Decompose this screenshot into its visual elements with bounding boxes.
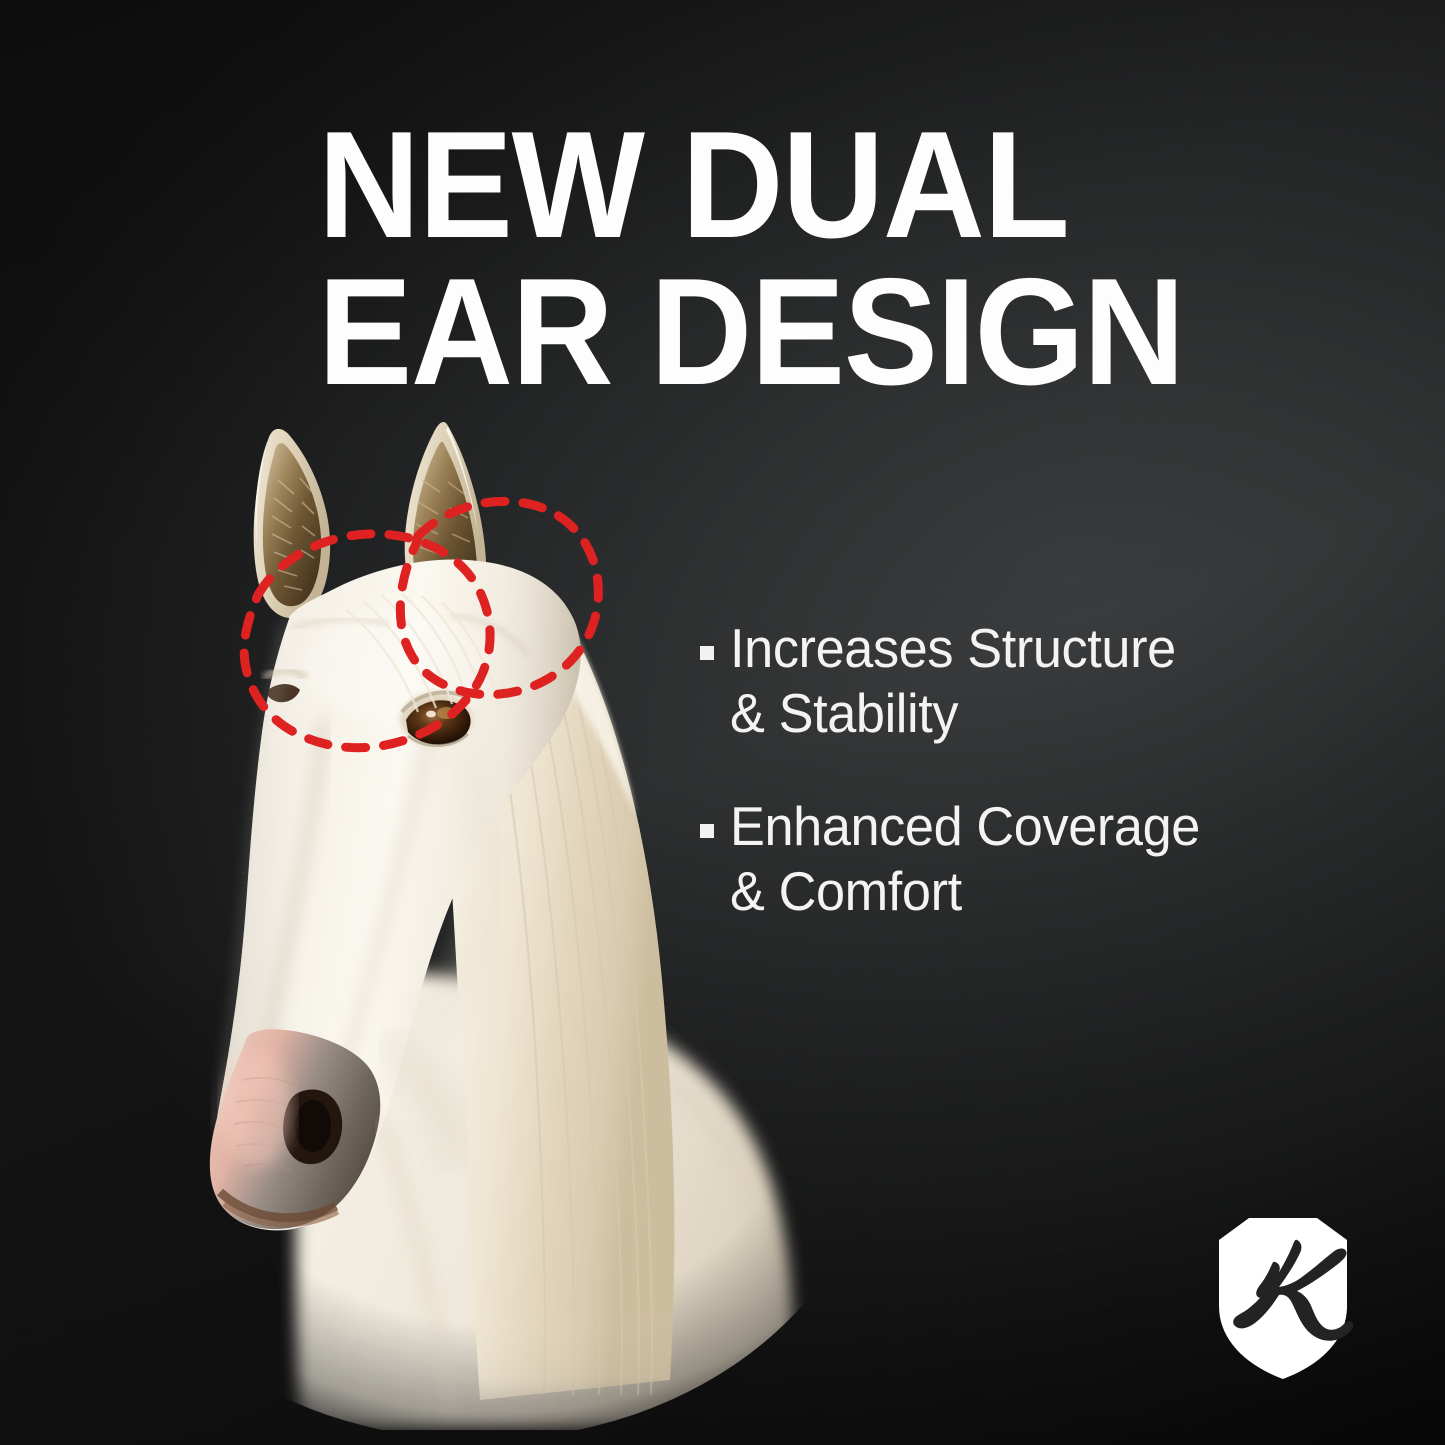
headline-line-2: EAR DESIGN bbox=[318, 259, 1155, 406]
horse-left-ear bbox=[254, 429, 330, 618]
promo-graphic: NEW DUAL EAR DESIGN bbox=[0, 0, 1445, 1445]
shield-logo-icon bbox=[1205, 1214, 1361, 1382]
bullet-square-icon bbox=[700, 824, 714, 838]
list-item: Increases Structure & Stability bbox=[700, 616, 1360, 746]
bullet-square-icon bbox=[700, 646, 714, 660]
headline-line-1: NEW DUAL bbox=[318, 112, 1155, 259]
bullet-text: Increases Structure & Stability bbox=[730, 616, 1176, 746]
list-item: Enhanced Coverage & Comfort bbox=[700, 794, 1360, 924]
bullet-line-1: Enhanced Coverage bbox=[730, 795, 1200, 857]
bullet-line-2: & Stability bbox=[730, 682, 958, 744]
bullet-line-1: Increases Structure bbox=[730, 617, 1176, 679]
headline: NEW DUAL EAR DESIGN bbox=[318, 112, 1155, 407]
shield-shape bbox=[1219, 1218, 1347, 1379]
bullet-line-2: & Comfort bbox=[730, 860, 962, 922]
feature-bullet-list: Increases Structure & Stability Enhanced… bbox=[700, 616, 1360, 972]
bullet-text: Enhanced Coverage & Comfort bbox=[730, 794, 1200, 924]
brand-logo bbox=[1205, 1214, 1361, 1382]
